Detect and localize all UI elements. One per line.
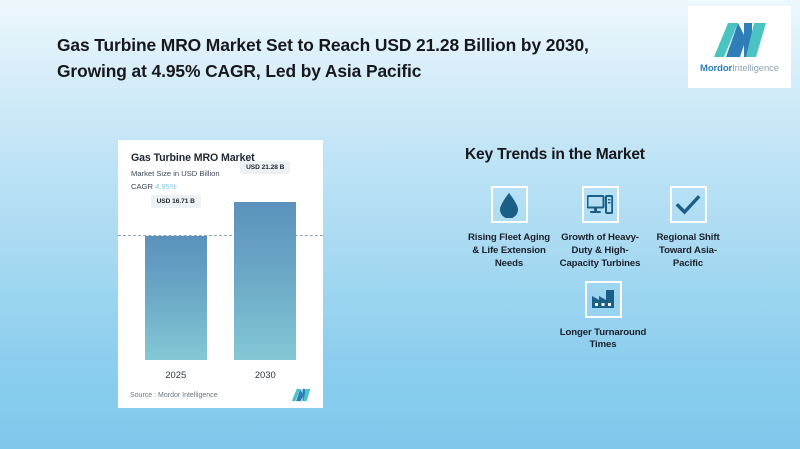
checkmark-icon [675,194,701,216]
chart-cagr-label: CAGR [131,182,153,191]
key-trends-section: Key Trends in the Market Rising Fleet Ag… [465,146,765,352]
source-text: Source : Mordor Intelligence [130,392,218,399]
x-axis-tick: 2030 [234,369,296,380]
bar-value-label: USD 16.71 B [151,195,201,208]
bar-column-2025[interactable]: USD 16.71 B [145,197,207,360]
key-trends-row-secondary: Longer Turnaround Times [465,281,765,353]
chart-footer: Source : Mordor Intelligence [130,382,311,408]
bar-rect[interactable] [234,202,296,360]
trend-item-heavy-duty-turbines[interactable]: Growth of Heavy-Duty & High-Capacity Tur… [556,186,644,271]
brand-logo: MordorIntelligence [688,6,791,88]
bar-rect[interactable] [145,236,207,360]
trend-item-regional-shift[interactable]: Regional Shift Toward Asia-Pacific [644,186,732,271]
trend-label: Longer Turnaround Times [559,327,647,353]
chart-plot-area: USD 16.71 B USD 21.28 B 2025 2030 [131,197,310,382]
trend-icon-box [585,281,622,318]
page-title: Gas Turbine MRO Market Set to Reach USD … [57,33,657,84]
chart-cagr: CAGR 4.95% [131,182,310,191]
brand-name: MordorIntelligence [700,63,779,74]
trend-item-turnaround-times[interactable]: Longer Turnaround Times [559,281,647,353]
water-droplet-icon [498,192,520,218]
trend-label: Rising Fleet Aging & Life Extension Need… [465,232,553,271]
x-axis-tick: 2025 [145,369,207,380]
mordor-m-i-monogram-icon [712,21,768,59]
mordor-monogram-icon [291,388,311,402]
brand-name-light: Intelligence [732,63,779,74]
bar-column-2030[interactable]: USD 21.28 B [234,197,296,360]
bar-series: USD 16.71 B USD 21.28 B [131,197,310,360]
x-axis-tick-labels: 2025 2030 [131,369,310,380]
key-trends-heading: Key Trends in the Market [465,146,765,164]
desktop-computer-icon [587,194,613,216]
bar-value-label: USD 21.28 B [240,161,290,174]
factory-icon [591,289,615,309]
trend-item-fleet-aging[interactable]: Rising Fleet Aging & Life Extension Need… [465,186,553,271]
trend-icon-box [582,186,619,223]
trend-label: Regional Shift Toward Asia-Pacific [644,232,732,271]
trend-label: Growth of Heavy-Duty & High-Capacity Tur… [556,232,644,271]
trend-icon-box [670,186,707,223]
chart-cagr-value: 4.95% [155,182,177,191]
key-trends-row-primary: Rising Fleet Aging & Life Extension Need… [465,186,765,271]
trend-icon-box [491,186,528,223]
chart-card: Gas Turbine MRO Market Market Size in US… [118,140,323,408]
brand-name-strong: Mordor [700,63,732,74]
